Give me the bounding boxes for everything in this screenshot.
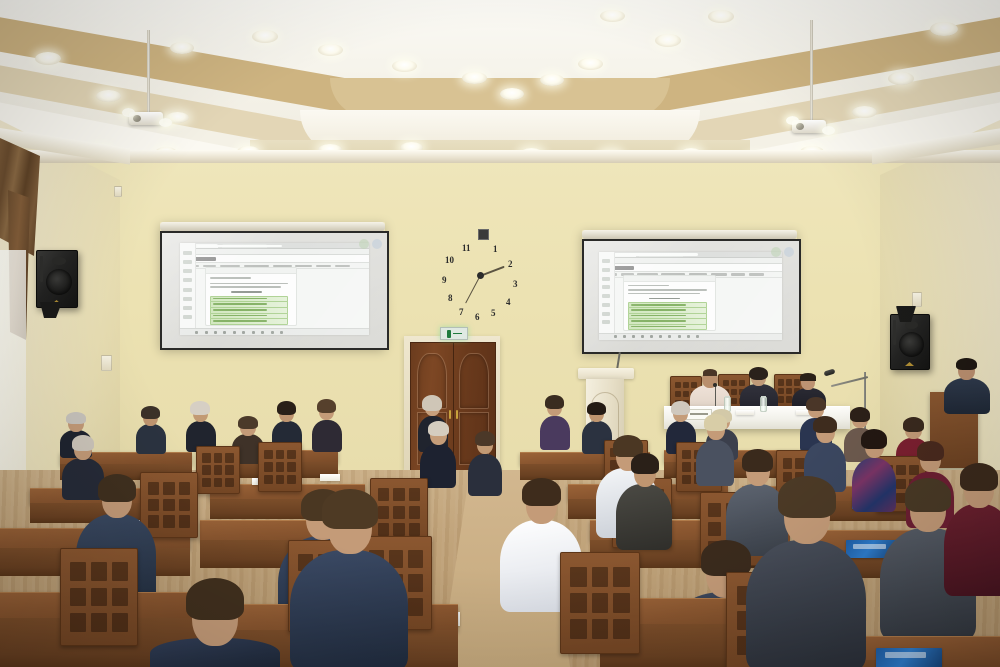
browser-url-bar[interactable] [615, 253, 697, 255]
downlight [170, 42, 194, 54]
registry-card [623, 275, 716, 331]
desk-microphone-head [713, 383, 717, 387]
downlight [540, 74, 564, 86]
desk-microphone [715, 386, 716, 406]
conference-hall-photo: 1 2 3 4 5 6 7 8 9 10 11 12 [0, 0, 1000, 667]
attendee [136, 408, 166, 452]
downlight [252, 30, 278, 43]
app-menu-item[interactable] [316, 265, 331, 267]
clock-numeral: 4 [506, 298, 511, 307]
attendee [290, 498, 408, 667]
attendee [312, 402, 342, 450]
projector-hotspot-icon [372, 239, 382, 249]
result-row[interactable] [628, 324, 707, 331]
downlight [600, 10, 625, 22]
attendee [150, 588, 280, 667]
attendee [944, 470, 1000, 590]
chair [60, 548, 136, 644]
app-menu-item[interactable] [749, 273, 764, 275]
downlight [708, 10, 734, 23]
blue-folder [876, 648, 942, 667]
paper-sheet [320, 474, 340, 481]
clock-numeral: 8 [448, 294, 453, 303]
os-taskbar[interactable] [180, 328, 369, 335]
crown-molding [0, 150, 1000, 163]
chair [560, 552, 638, 652]
chair [258, 442, 300, 490]
wall-outlet-plate[interactable] [101, 355, 112, 371]
downlight [500, 88, 524, 100]
sheer-curtain [0, 250, 26, 480]
clock-numeral: 1 [493, 245, 498, 254]
attendee [420, 424, 456, 486]
wall-outlet-plate[interactable] [912, 292, 922, 307]
downlight [318, 44, 343, 56]
downlight [578, 58, 603, 70]
downlight [35, 52, 61, 65]
clock-numeral: 7 [459, 308, 464, 317]
clock-numeral: 9 [442, 276, 447, 285]
left-wall-speaker [36, 250, 78, 308]
wall-clock: 1 2 3 4 5 6 7 8 9 10 11 12 [432, 228, 528, 324]
browser-url-bar[interactable] [197, 245, 282, 247]
clock-numeral: 5 [491, 309, 496, 318]
attendee [616, 458, 672, 548]
projector-hotspot-icon [784, 247, 794, 257]
attendee [540, 398, 570, 448]
clock-numeral: 11 [462, 244, 471, 253]
downlight [888, 72, 914, 85]
app-menu-item[interactable] [295, 265, 312, 267]
projector-hotspot-icon [771, 247, 781, 257]
attendee [186, 404, 216, 450]
right-wall-speaker [890, 314, 930, 370]
chair [196, 446, 238, 492]
wall-outlet-plate[interactable] [114, 186, 122, 197]
clock-minute-hand [465, 275, 481, 303]
result-row[interactable] [210, 318, 288, 325]
clock-numeral: 3 [513, 280, 518, 289]
standing-attendee [944, 360, 990, 410]
projector-hotspot-icon [359, 239, 369, 249]
clock-numeral: 10 [445, 256, 454, 265]
clock-numeral: 6 [475, 313, 480, 322]
clock-center-hub [477, 272, 484, 279]
attendee [746, 486, 866, 667]
app-sidebar[interactable] [180, 243, 196, 335]
registry-card [205, 267, 298, 326]
right-projection-screen [582, 230, 797, 352]
left-projection-screen [160, 222, 385, 348]
app-sidebar[interactable] [599, 252, 615, 340]
downlight [852, 106, 877, 118]
downlight [462, 72, 487, 84]
downlight [392, 60, 417, 72]
app-menu-item[interactable] [731, 273, 746, 275]
os-taskbar[interactable] [599, 333, 782, 340]
microphone-head [823, 368, 835, 376]
attendee [468, 434, 502, 494]
downlight [930, 22, 958, 36]
water-bottle [760, 397, 767, 412]
clock-numeral: 2 [508, 260, 513, 269]
app-menu-item[interactable] [335, 265, 350, 267]
paper-sheet [736, 410, 754, 415]
downlight [655, 34, 681, 47]
exit-sign [440, 327, 468, 340]
downlight [96, 90, 121, 102]
exit-figure-icon [447, 330, 451, 338]
